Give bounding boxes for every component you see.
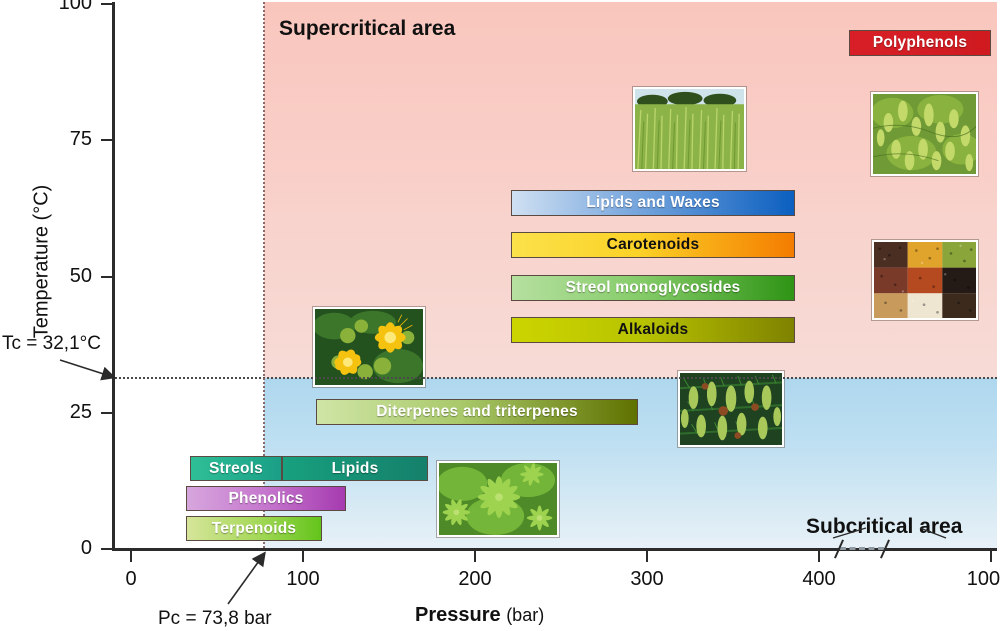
pc-annotation-label: Pc = 73,8 bar (158, 608, 272, 630)
figure-canvas: Polyphenols Lipids and Waxes Carotenoids… (0, 0, 1000, 631)
tc-annotation-arrow (0, 0, 1000, 631)
